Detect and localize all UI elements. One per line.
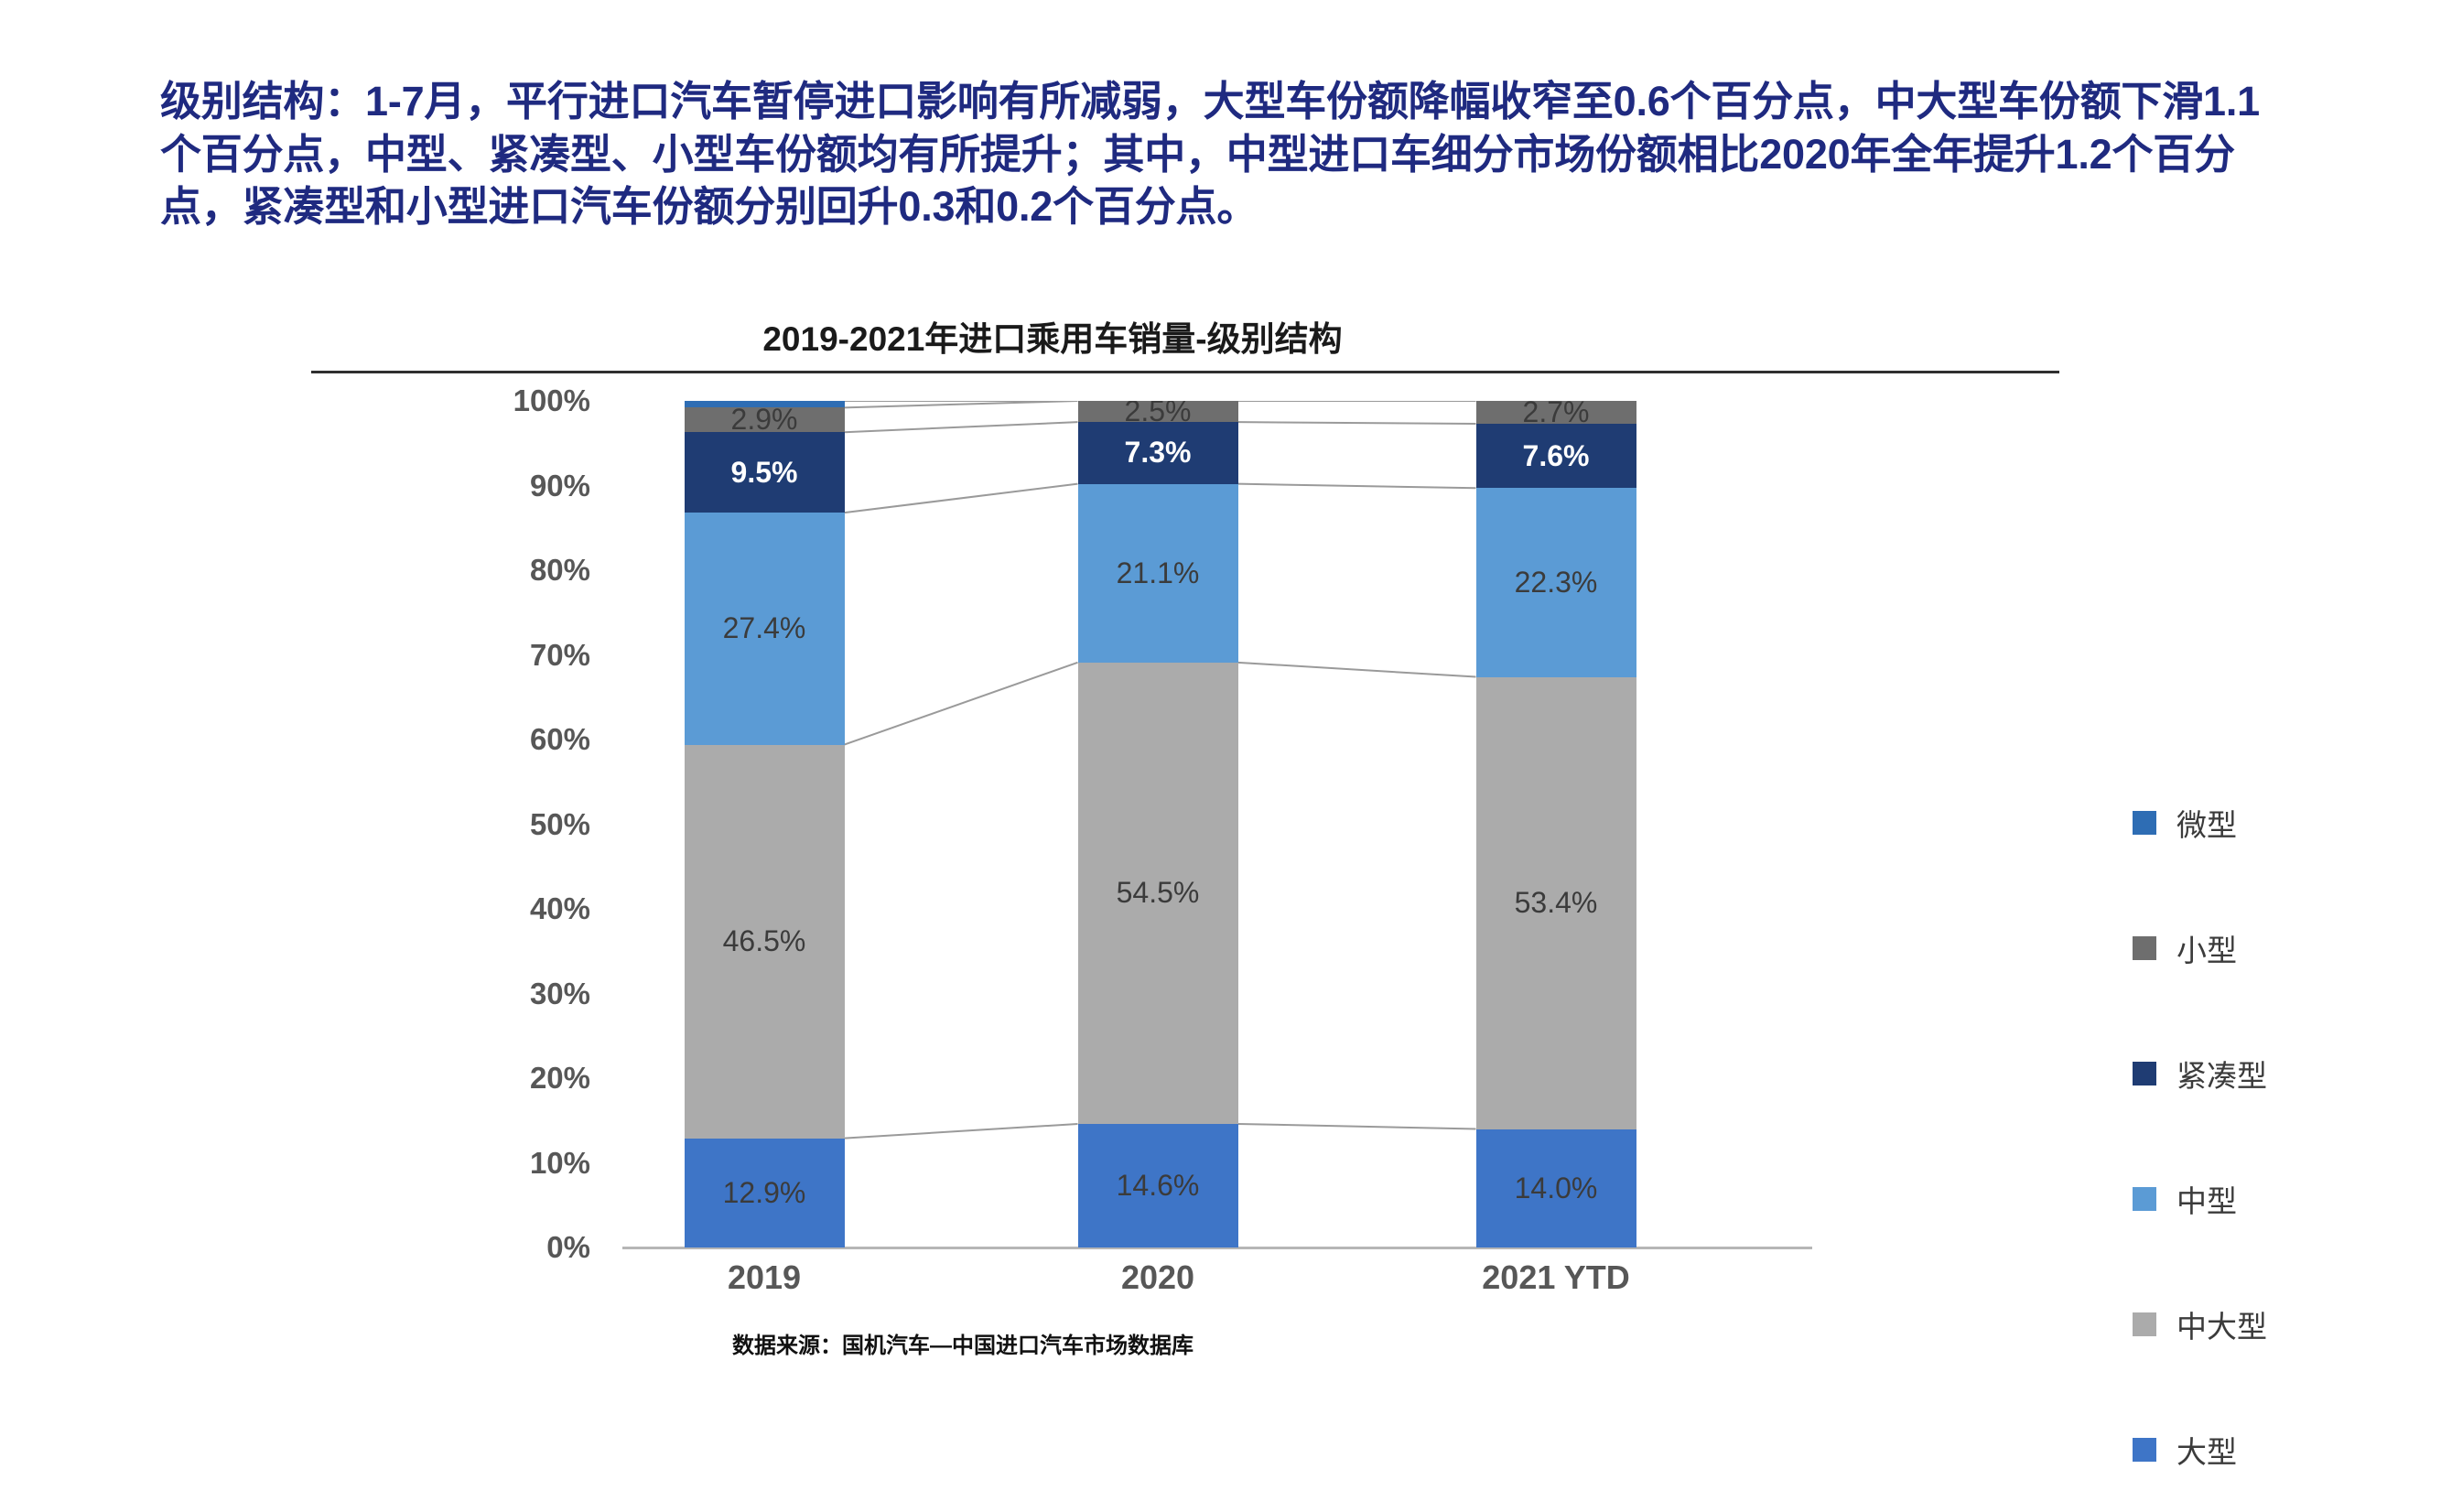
y-axis-tick: 20% (453, 1061, 618, 1096)
legend-item-大型[interactable]: 大型 (2133, 1387, 2441, 1512)
chart-container: 2019-2021年进口乘用车销量-级别结构 100%90%80%70%60%5… (302, 302, 2133, 1309)
source-note: 数据来源：国机汽车—中国进口汽车市场数据库 (732, 1327, 1193, 1359)
y-axis-tick: 0% (453, 1230, 618, 1265)
bar-segment-中型[interactable]: 27.4% (685, 513, 845, 744)
x-axis-tick: 2021 YTD (1410, 1258, 1702, 1297)
legend-label: 小型 (2176, 926, 2237, 970)
connector-line (845, 1124, 1078, 1139)
legend-label: 中型 (2176, 1177, 2237, 1221)
chart-top-rule (311, 371, 2059, 373)
slide-headline: 级别结构：1-7月，平行进口汽车暂停进口影响有所减弱，大型车份额降幅收窄至0.6… (160, 75, 2265, 233)
bar-segment-label: 2.9% (731, 407, 798, 432)
connector-line (1238, 422, 1476, 424)
bar-segment-label: 12.9% (723, 1176, 806, 1210)
bar-segment-小型[interactable]: 2.7% (1476, 401, 1636, 424)
legend-item-微型[interactable]: 微型 (2133, 760, 2441, 885)
x-axis-tick: 2020 (1011, 1258, 1304, 1297)
chart-title: 2019-2021年进口乘用车销量-级别结构 (302, 311, 1803, 361)
connector-line (845, 422, 1078, 432)
legend-swatch-icon (2133, 1062, 2156, 1085)
bar-segment-紧凑型[interactable]: 7.3% (1078, 422, 1238, 484)
chart-legend: 微型小型紧凑型中型中大型大型 (2133, 760, 2441, 1512)
bar-segment-中型[interactable]: 22.3% (1476, 488, 1636, 676)
connector-line (1238, 663, 1476, 677)
bar-segment-label: 7.3% (1125, 436, 1192, 470)
y-axis-tick: 60% (453, 722, 618, 757)
y-axis-tick: 100% (453, 383, 618, 418)
connector-line (1238, 484, 1476, 489)
legend-item-紧凑型[interactable]: 紧凑型 (2133, 1010, 2441, 1136)
bar-segment-中型[interactable]: 21.1% (1078, 484, 1238, 663)
bar-segment-小型[interactable]: 2.5% (1078, 401, 1238, 422)
bar-segment-中大型[interactable]: 53.4% (1476, 677, 1636, 1129)
stacked-bar-2020[interactable]: 14.6%54.5%21.1%7.3%2.5% (1078, 401, 1238, 1247)
y-axis-tick: 80% (453, 553, 618, 588)
connector-line (845, 663, 1078, 745)
bar-segment-紧凑型[interactable]: 7.6% (1476, 424, 1636, 488)
connector-line (845, 401, 1078, 407)
connector-line (1238, 1124, 1476, 1129)
bar-segment-label: 53.4% (1515, 886, 1598, 920)
connector-line (845, 484, 1078, 513)
y-axis-tick: 10% (453, 1146, 618, 1181)
bar-segment-label: 14.0% (1515, 1172, 1598, 1205)
bar-segment-大型[interactable]: 14.0% (1476, 1129, 1636, 1248)
bar-segment-label: 22.3% (1515, 566, 1598, 599)
legend-swatch-icon (2133, 936, 2156, 960)
stacked-bar-2021-ytd[interactable]: 14.0%53.4%22.3%7.6%2.7% (1476, 401, 1636, 1247)
bar-segment-label: 7.6% (1523, 439, 1590, 473)
bar-segment-label: 27.4% (723, 611, 806, 645)
y-axis-tick: 50% (453, 807, 618, 842)
y-axis-tick: 30% (453, 977, 618, 1011)
legend-swatch-icon (2133, 1438, 2156, 1462)
legend-item-中型[interactable]: 中型 (2133, 1136, 2441, 1261)
bar-segment-label: 21.1% (1117, 556, 1200, 590)
stacked-bar-2019[interactable]: 12.9%46.5%27.4%9.5%2.9% (685, 401, 845, 1247)
bar-segment-label: 2.7% (1523, 401, 1590, 424)
bar-segment-label: 9.5% (731, 456, 798, 490)
y-axis-tick: 40% (453, 891, 618, 926)
y-axis-tick: 70% (453, 638, 618, 673)
legend-swatch-icon (2133, 811, 2156, 835)
x-axis-tick: 2019 (618, 1258, 911, 1297)
legend-item-中大型[interactable]: 中大型 (2133, 1261, 2441, 1387)
bar-segment-微型[interactable] (685, 401, 845, 407)
bar-segment-中大型[interactable]: 54.5% (1078, 663, 1238, 1124)
legend-swatch-icon (2133, 1187, 2156, 1211)
legend-label: 大型 (2176, 1428, 2237, 1472)
legend-label: 微型 (2176, 801, 2237, 845)
bar-segment-label: 2.5% (1125, 401, 1192, 422)
legend-swatch-icon (2133, 1312, 2156, 1336)
legend-item-小型[interactable]: 小型 (2133, 885, 2441, 1010)
legend-label: 中大型 (2176, 1302, 2267, 1346)
bar-segment-紧凑型[interactable]: 9.5% (685, 432, 845, 513)
bar-segment-label: 46.5% (723, 924, 806, 958)
bar-segment-label: 54.5% (1117, 876, 1200, 910)
bar-segment-小型[interactable]: 2.9% (685, 407, 845, 432)
bar-segment-label: 14.6% (1117, 1169, 1200, 1203)
y-axis-tick: 90% (453, 469, 618, 503)
bar-segment-中大型[interactable]: 46.5% (685, 745, 845, 1139)
legend-label: 紧凑型 (2176, 1052, 2267, 1096)
plot-area: 100%90%80%70%60%50%40%30%20%10%0% 12.9%4… (622, 401, 1803, 1247)
bar-segment-大型[interactable]: 14.6% (1078, 1124, 1238, 1247)
bar-segment-大型[interactable]: 12.9% (685, 1139, 845, 1247)
